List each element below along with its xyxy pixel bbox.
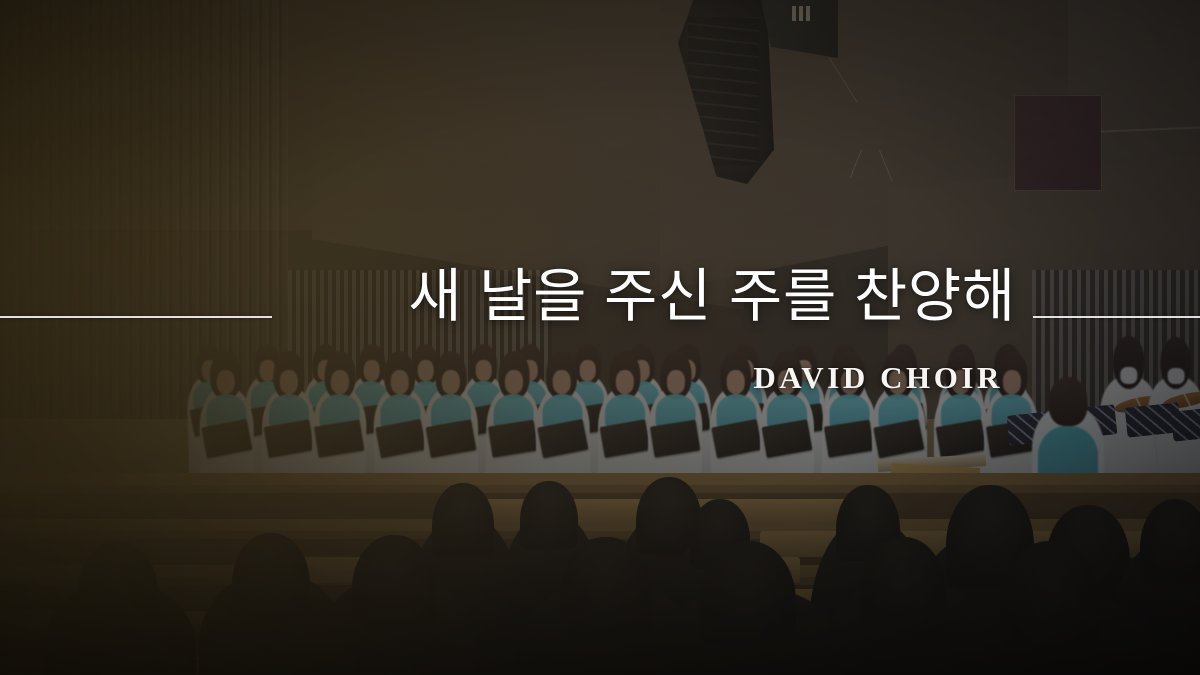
slide-canvas: 새 날을 주신 주를 찬양해 DAVID CHOIR: [0, 0, 1200, 675]
vignette-overlay: [0, 0, 1200, 675]
